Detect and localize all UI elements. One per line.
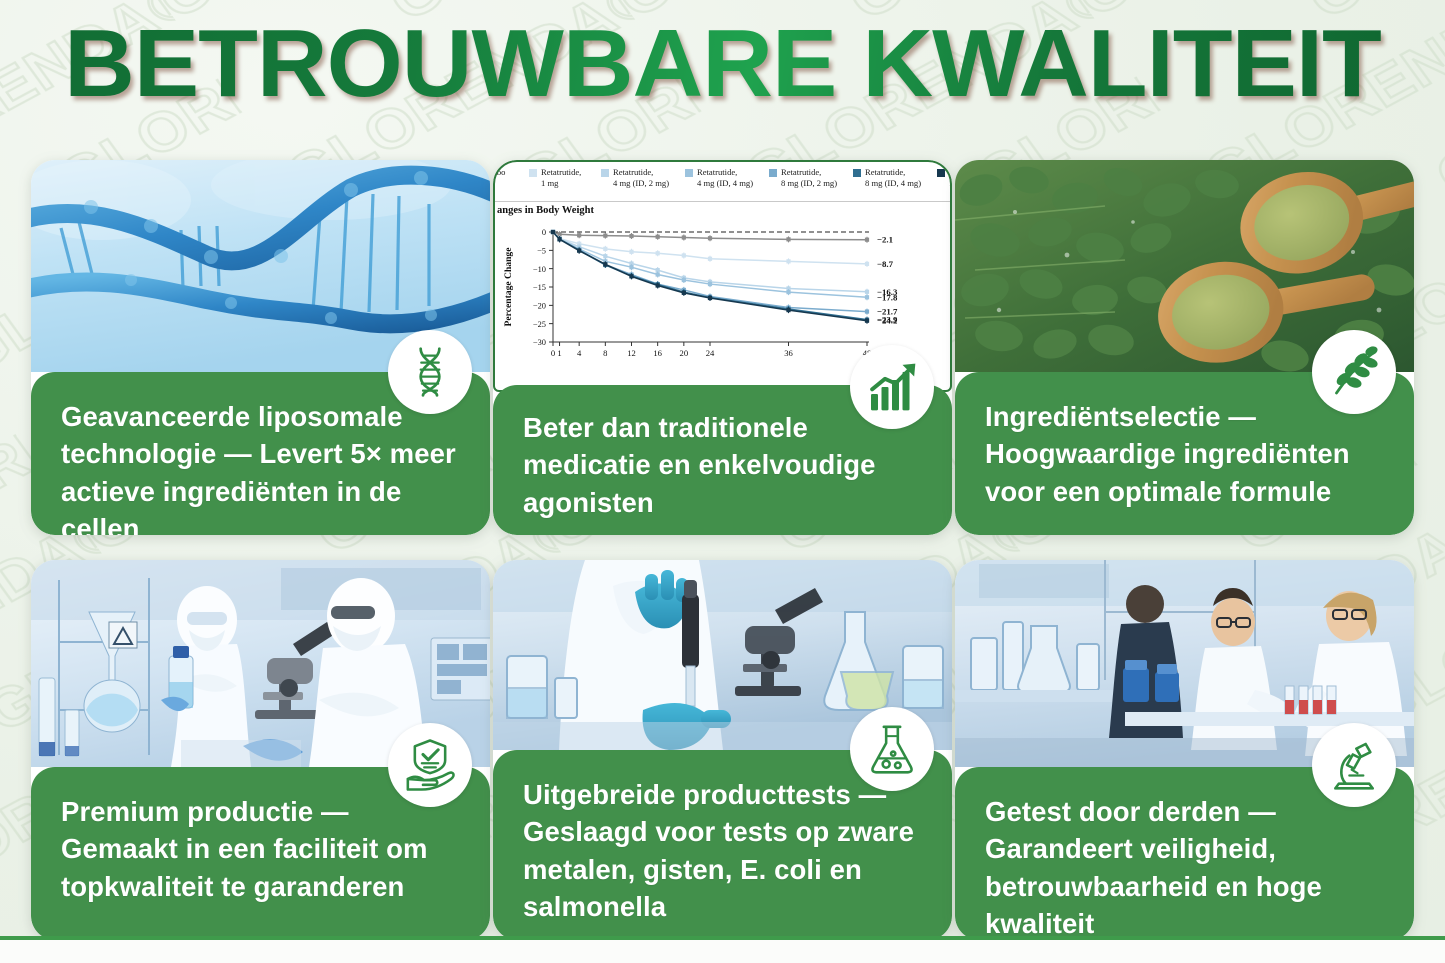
card-ingredient-selection[interactable]: Ingrediëntselectie — Hoogwaardige ingred…: [955, 160, 1414, 535]
card-extensive-product-testing[interactable]: Uitgebreide producttests — Geslaagd voor…: [493, 560, 952, 940]
card-third-party-tested[interactable]: Getest door derden — Garandeert veilighe…: [955, 560, 1414, 940]
page-title: BETROUWBARE KWALITEIT: [0, 16, 1445, 112]
svg-text:−17.8: −17.8: [877, 292, 898, 302]
svg-text:16: 16: [653, 348, 662, 358]
svg-text:24: 24: [706, 348, 715, 358]
legend-label: Retatrutide,4 mg (ID, 2 mg): [613, 167, 669, 188]
card-label: Uitgebreide producttests — Geslaagd voor…: [523, 776, 922, 926]
legend-swatch: [853, 169, 861, 177]
card-label: Beter dan traditionele medicatie en enke…: [523, 409, 922, 521]
legend-swatch: [529, 169, 537, 177]
svg-text:36: 36: [784, 348, 793, 358]
card-liposomal-technology[interactable]: Geavanceerde liposomale technologie — Le…: [31, 160, 490, 535]
svg-text:−24.2: −24.2: [877, 316, 898, 326]
svg-text:−10: −10: [533, 265, 546, 274]
feature-card-grid: Geavanceerde liposomale technologie — Le…: [31, 160, 1415, 940]
card-better-than-traditional[interactable]: ebo Retatrutide,1 mg Retatrutide,4 mg (I…: [493, 160, 952, 535]
svg-text:8: 8: [603, 348, 607, 358]
legend-label: Retatrutide,4 mg (ID, 4 mg): [697, 167, 753, 188]
card-label: Ingrediëntselectie — Hoogwaardige ingred…: [985, 398, 1384, 510]
svg-text:4: 4: [577, 348, 582, 358]
shield-check-in-hand-icon: [388, 723, 472, 807]
svg-text:−30: −30: [533, 338, 546, 347]
card-premium-production[interactable]: Premium productie — Gemaakt in een facil…: [31, 560, 490, 940]
legend-label: ebo: [495, 167, 505, 178]
svg-text:0: 0: [551, 348, 555, 358]
svg-text:−8.7: −8.7: [877, 259, 894, 269]
svg-text:−25: −25: [533, 320, 546, 329]
legend-label: Retatrutide,12 mg (ID, 2: [949, 167, 950, 188]
svg-text:20: 20: [680, 348, 689, 358]
svg-text:−5: −5: [537, 247, 546, 256]
card-label: Getest door derden — Garandeert veilighe…: [985, 793, 1384, 940]
legend-label: Retatrutide,1 mg: [541, 167, 581, 188]
card-label: Premium productie — Gemaakt in een facil…: [61, 793, 460, 905]
svg-text:12: 12: [627, 348, 636, 358]
legend-swatch: [937, 169, 945, 177]
chart-title: anges in Body Weight: [497, 205, 594, 216]
chart-legend: ebo Retatrutide,1 mg Retatrutide,4 mg (I…: [495, 162, 950, 202]
dna-icon: [388, 330, 472, 414]
legend-swatch: [685, 169, 693, 177]
svg-text:0: 0: [542, 228, 546, 237]
legend-label: Retatrutide,8 mg (ID, 2 mg): [781, 167, 837, 188]
svg-text:−15: −15: [533, 283, 546, 292]
poster-canvas: GLORENDA® GLORENDA® BETROUWBARE KWALITEI…: [0, 0, 1445, 963]
svg-text:Percentage Change: Percentage Change: [503, 247, 514, 327]
legend-label: Retatrutide,8 mg (ID, 4 mg): [865, 167, 921, 188]
svg-text:−20: −20: [533, 302, 546, 311]
bottom-accent-bar: [0, 936, 1445, 963]
svg-text:1: 1: [557, 348, 561, 358]
card-label: Geavanceerde liposomale technologie — Le…: [61, 398, 460, 535]
erlenmeyer-flask-icon: [850, 707, 934, 791]
microscope-icon: [1312, 723, 1396, 807]
bar-chart-growth-icon: [850, 345, 934, 429]
leaf-sprig-icon: [1312, 330, 1396, 414]
legend-swatch: [601, 169, 609, 177]
legend-swatch: [769, 169, 777, 177]
svg-text:−2.1: −2.1: [877, 235, 893, 245]
